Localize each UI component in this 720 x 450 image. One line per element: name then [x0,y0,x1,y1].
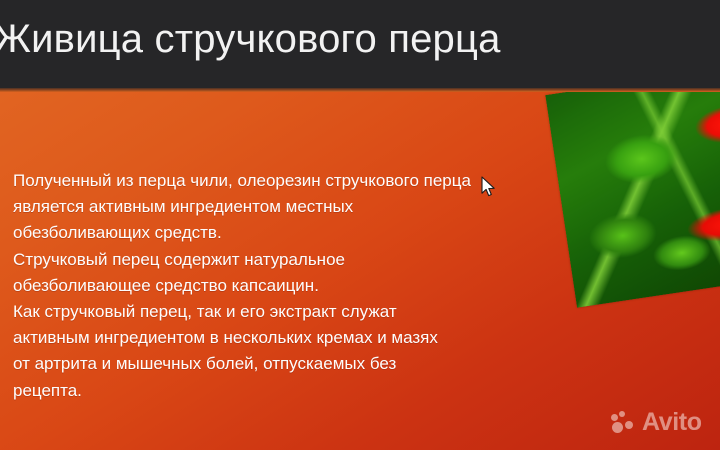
avito-watermark: Avito [611,410,702,435]
chili-pepper-photo-image [545,63,720,307]
body-line: является активным ингредиентом местных [13,194,523,220]
slide-title: Живица стручкового перца [0,13,694,65]
presentation-slide: Живица стручкового перца Полученный из п… [0,0,720,450]
body-line: Стручковый перец содержит натуральное [13,247,523,273]
avito-wordmark: Avito [642,410,702,435]
chili-pepper-photo [545,63,720,307]
slide-body-text: Полученный из перца чили, олеорезин стру… [13,168,523,404]
avito-logo-icon [611,411,637,435]
body-line: рецепта. [13,378,523,404]
body-line: Как стручковый перец, так и его экстракт… [13,299,523,325]
title-bar-bottom-edge [0,88,720,92]
body-line: обезболивающих средств. [13,220,523,246]
body-line: Полученный из перца чили, олеорезин стру… [13,168,523,194]
body-line: активным ингредиентом в нескольких крема… [13,325,523,351]
body-line: обезболивающее средство капсаицин. [13,273,523,299]
body-line: от артрита и мышечных болей, отпускаемых… [13,351,523,377]
